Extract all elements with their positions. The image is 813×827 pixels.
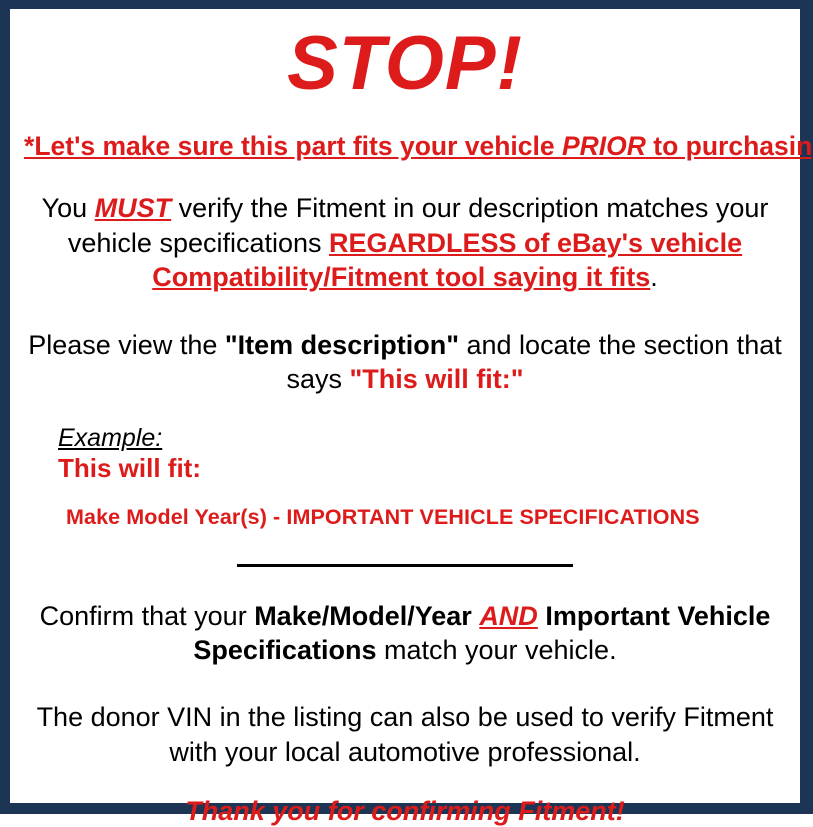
subtitle-suffix: to purchasing*	[646, 131, 813, 161]
subtitle-prefix: *Let's make sure this part fits your veh…	[24, 131, 562, 161]
must-part1: You	[42, 193, 95, 223]
divider-wrap	[24, 530, 786, 572]
paragraph-must-verify: You MUST verify the Fitment in our descr…	[24, 161, 786, 295]
paragraph-view-description: Please view the "Item description" and l…	[24, 295, 786, 397]
item-description-emphasis: "Item description"	[225, 330, 459, 360]
confirm-part1: Confirm that your	[40, 601, 255, 631]
subtitle-warning: *Let's make sure this part fits your veh…	[24, 102, 786, 161]
paragraph-confirm: Confirm that your Make/Model/Year AND Im…	[24, 572, 786, 668]
paragraph-donor-vin: The donor VIN in the listing can also be…	[24, 668, 786, 769]
example-block: Example: This will fit: Make Model Year(…	[24, 397, 786, 530]
closing-thank-you: Thank you for confirming Fitment!	[24, 769, 786, 827]
this-will-fit-emphasis: "This will fit:"	[349, 364, 523, 394]
and-emphasis: AND	[479, 601, 538, 631]
view-part1: Please view the	[28, 330, 225, 360]
make-model-year-emphasis: Make/Model/Year	[254, 601, 472, 631]
notice-content-area: STOP! *Let's make sure this part fits yo…	[10, 9, 800, 803]
section-divider	[237, 564, 573, 567]
must-part3: .	[650, 262, 658, 292]
subtitle-emphasis-prior: PRIOR	[562, 131, 646, 161]
confirm-part4: match your vehicle.	[376, 635, 616, 665]
example-fit-header: This will fit:	[58, 452, 786, 484]
must-emphasis: MUST	[95, 193, 172, 223]
page-title: STOP!	[24, 9, 786, 102]
example-spec-line: Make Model Year(s) - IMPORTANT VEHICLE S…	[58, 484, 786, 530]
example-label: Example:	[58, 425, 786, 453]
fitment-notice-card: STOP! *Let's make sure this part fits yo…	[0, 0, 813, 814]
